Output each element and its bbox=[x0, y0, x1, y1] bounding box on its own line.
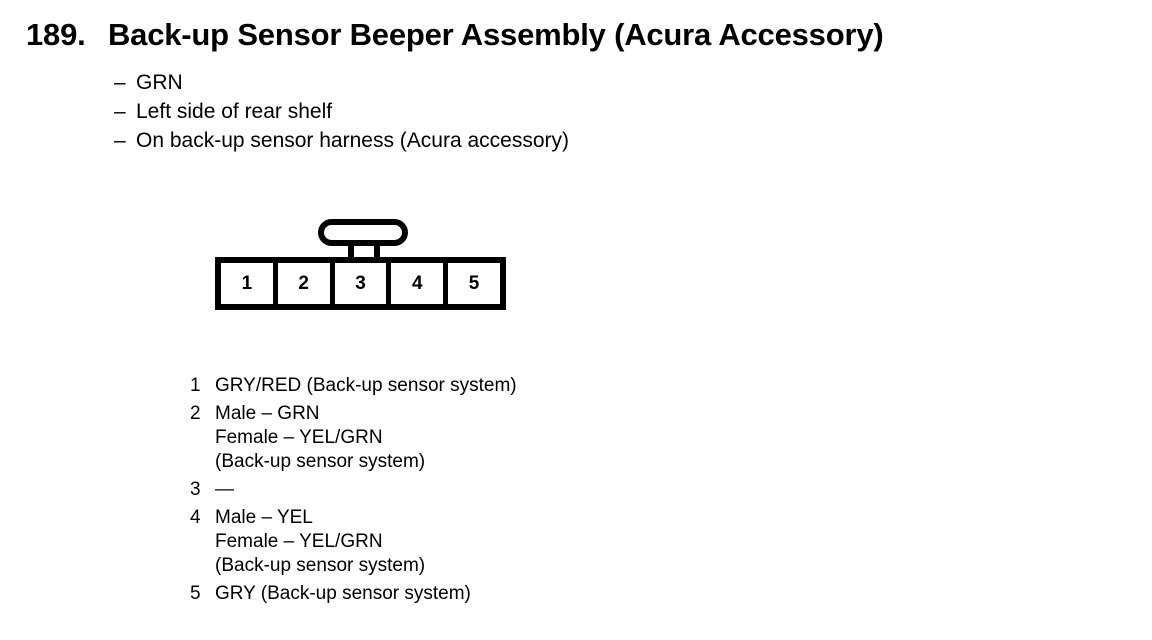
connector-cavity-1: 1 bbox=[221, 263, 273, 304]
legend-pin-lines: Male – GRNFemale – YEL/GRN(Back-up senso… bbox=[215, 402, 890, 474]
descriptor-item: –Left side of rear shelf bbox=[114, 97, 914, 126]
legend-pin-number: 4 bbox=[190, 506, 215, 530]
legend-entry: 5GRY (Back-up sensor system) bbox=[190, 582, 890, 606]
descriptor-dash-icon: – bbox=[114, 68, 136, 97]
connector-cavity-3: 3 bbox=[335, 263, 387, 304]
pin-legend: 1GRY/RED (Back-up sensor system)2Male – … bbox=[190, 374, 890, 610]
legend-pin-line: Male – GRN bbox=[215, 402, 890, 426]
page-title-text: Back-up Sensor Beeper Assembly (Acura Ac… bbox=[108, 17, 883, 52]
descriptor-label: On back-up sensor harness (Acura accesso… bbox=[136, 129, 569, 152]
legend-pin-number: 3 bbox=[190, 478, 215, 502]
connector-body: 12345 bbox=[215, 257, 506, 310]
legend-pin-lines: GRY (Back-up sensor system) bbox=[215, 582, 890, 606]
legend-entry: 3— bbox=[190, 478, 890, 502]
legend-entry: 4Male – YELFemale – YEL/GRN(Back-up sens… bbox=[190, 506, 890, 578]
legend-pin-lines: — bbox=[215, 478, 890, 502]
legend-pin-number: 2 bbox=[190, 402, 215, 426]
legend-pin-number: 5 bbox=[190, 582, 215, 606]
legend-pin-line: Male – YEL bbox=[215, 506, 890, 530]
descriptor-list: –GRN–Left side of rear shelf–On back-up … bbox=[114, 68, 914, 155]
legend-pin-lines: Male – YELFemale – YEL/GRN(Back-up senso… bbox=[215, 506, 890, 578]
legend-pin-line: GRY (Back-up sensor system) bbox=[215, 582, 890, 606]
legend-entry: 2Male – GRNFemale – YEL/GRN(Back-up sens… bbox=[190, 402, 890, 474]
legend-entry: 1GRY/RED (Back-up sensor system) bbox=[190, 374, 890, 398]
legend-pin-line: — bbox=[215, 478, 890, 502]
connector-latch-icon bbox=[318, 219, 408, 246]
connector-cavity-5: 5 bbox=[448, 263, 500, 304]
legend-pin-line: Female – YEL/GRN bbox=[215, 426, 890, 450]
descriptor-dash-icon: – bbox=[114, 97, 136, 126]
descriptor-item: –On back-up sensor harness (Acura access… bbox=[114, 126, 914, 155]
descriptor-dash-icon: – bbox=[114, 126, 136, 155]
page-title: 189.Back-up Sensor Beeper Assembly (Acur… bbox=[26, 16, 1136, 54]
connector-cavity-4: 4 bbox=[391, 263, 443, 304]
legend-pin-lines: GRY/RED (Back-up sensor system) bbox=[215, 374, 890, 398]
descriptor-label: Left side of rear shelf bbox=[136, 100, 332, 123]
descriptor-item: –GRN bbox=[114, 68, 914, 97]
connector-diagram: 12345 bbox=[215, 216, 515, 316]
descriptor-label: GRN bbox=[136, 71, 183, 94]
legend-pin-line: (Back-up sensor system) bbox=[215, 554, 890, 578]
page-title-number: 189. bbox=[26, 16, 108, 54]
connector-cavity-2: 2 bbox=[278, 263, 330, 304]
legend-pin-line: (Back-up sensor system) bbox=[215, 450, 890, 474]
legend-pin-line: Female – YEL/GRN bbox=[215, 530, 890, 554]
legend-pin-line: GRY/RED (Back-up sensor system) bbox=[215, 374, 890, 398]
legend-pin-number: 1 bbox=[190, 374, 215, 398]
